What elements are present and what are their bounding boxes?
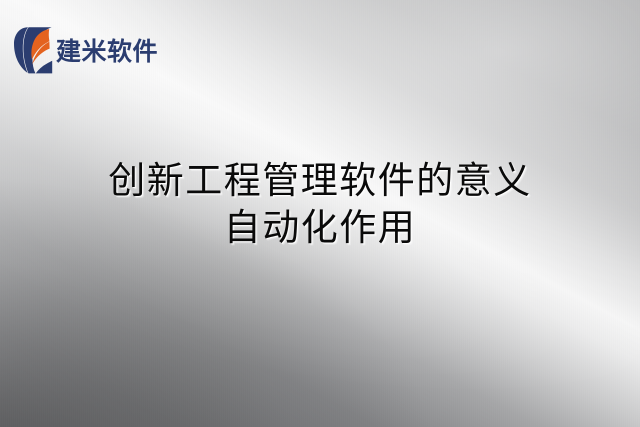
jianmi-leaf-logo-icon [13, 26, 53, 74]
slide-canvas: 建米软件 创新工程管理软件的意义 自动化作用 [0, 0, 640, 427]
brand-wordmark: 建米软件 [56, 39, 158, 64]
brand-logo[interactable]: 建米软件 [13, 26, 158, 74]
